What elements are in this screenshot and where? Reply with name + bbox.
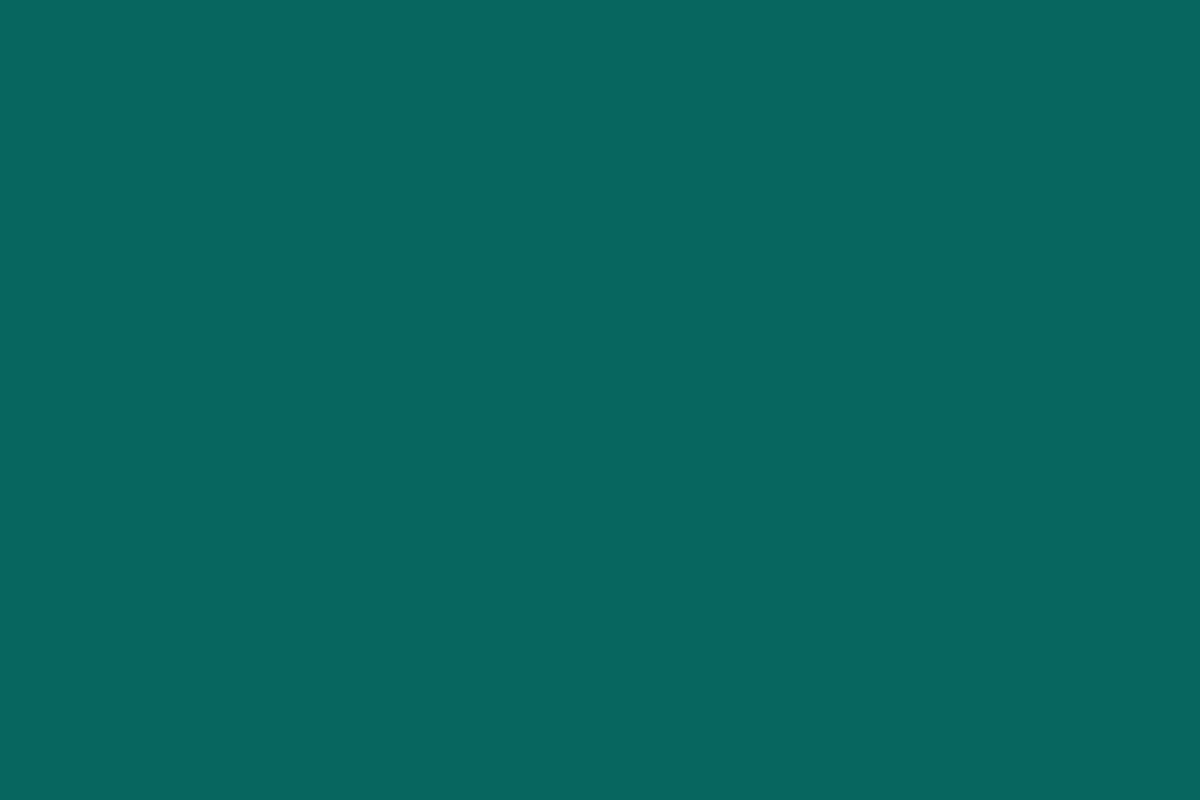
title-line-2: 대출과 생애최초 주택담보대출: <box>26 350 1174 450</box>
title-banner: 신생아 특례 대환 대출과 생애최초 주택담보대출: 당신의 금융 전략에 미치… <box>0 0 1200 800</box>
banner-title: 신생아 특례 대환 대출과 생애최초 주택담보대출: 당신의 금융 전략에 미치… <box>0 250 1200 550</box>
title-line-3: 당신의 금융 전략에 미치는 영향 <box>26 450 1174 550</box>
title-line-1: 신생아 특례 대환 <box>26 250 1174 350</box>
